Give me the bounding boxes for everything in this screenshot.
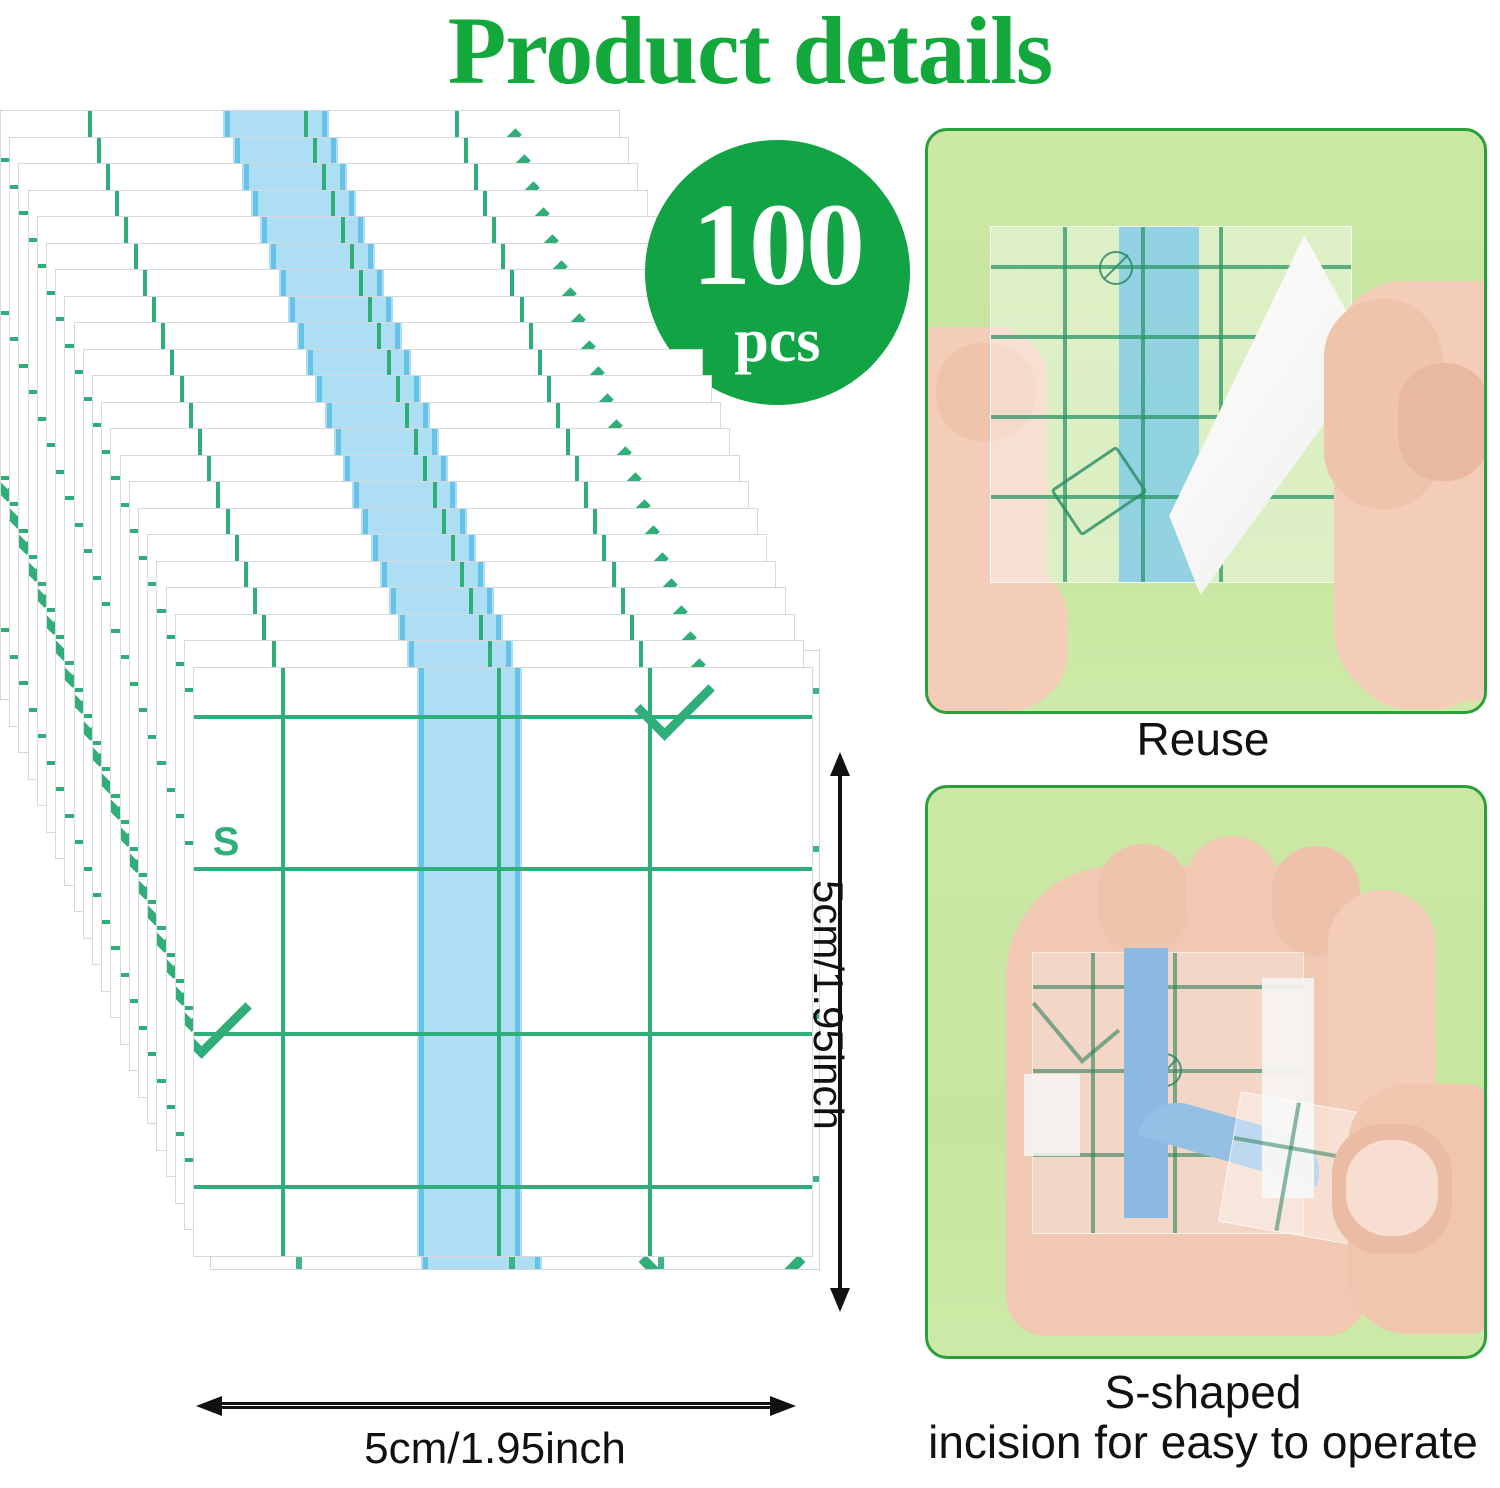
blue-center-band (417, 667, 522, 1257)
grid-line-horizontal (194, 1185, 812, 1189)
film-grid-vertical (1274, 1102, 1301, 1231)
panel-reuse-photo (925, 128, 1487, 714)
width-dimension-arrow (196, 1396, 796, 1416)
s-incision-mark: S (213, 820, 240, 865)
page-title: Product details (0, 0, 1500, 106)
caption-line-2: incision for easy to operate (925, 1418, 1481, 1468)
film-grid-horizontal (991, 495, 1351, 499)
fingernail (1346, 1140, 1438, 1236)
hand-right-thumb (1348, 523, 1487, 709)
grid-line-horizontal (194, 715, 812, 719)
product-details-page: Product details SSSSSSSSSSSSSSSSSSSSSS 2… (0, 0, 1500, 1488)
white-liner-corner (1024, 1074, 1080, 1156)
knuckle (1186, 836, 1278, 948)
knuckle (1098, 844, 1188, 954)
fingernail (1398, 363, 1487, 481)
blue-pull-tab (1124, 948, 1168, 1218)
dimension-line (214, 1402, 778, 1409)
grid-line-vertical (497, 668, 501, 1256)
caption-line-1: S-shaped (925, 1368, 1481, 1418)
grid-line-horizontal (194, 1032, 812, 1036)
arrow-down-icon (830, 1288, 850, 1312)
dressing-sheet: S (193, 667, 813, 1257)
grid-line-vertical (648, 668, 652, 1256)
width-dimension-label: 5cm/1.95inch (0, 1424, 990, 1474)
chevron-mark-icon (634, 667, 715, 742)
film-grid-vertical (1173, 953, 1177, 1233)
grid-line-horizontal (194, 867, 812, 871)
panel-s-incision-photo (925, 785, 1487, 1359)
panel-s-incision-caption: S-shaped incision for easy to operate (925, 1368, 1481, 1467)
film-grid-vertical (1063, 227, 1067, 582)
do-not-reuse-icon (1081, 249, 1151, 285)
grid-line-vertical (281, 668, 285, 1256)
panel-reuse-caption: Reuse (925, 712, 1481, 766)
badge-count: 100 (645, 140, 910, 304)
film-grid-vertical (1091, 953, 1095, 1233)
arrow-right-icon (770, 1396, 796, 1416)
chevron-mark-icon (193, 978, 251, 1059)
hand-left-finger (925, 561, 1068, 711)
